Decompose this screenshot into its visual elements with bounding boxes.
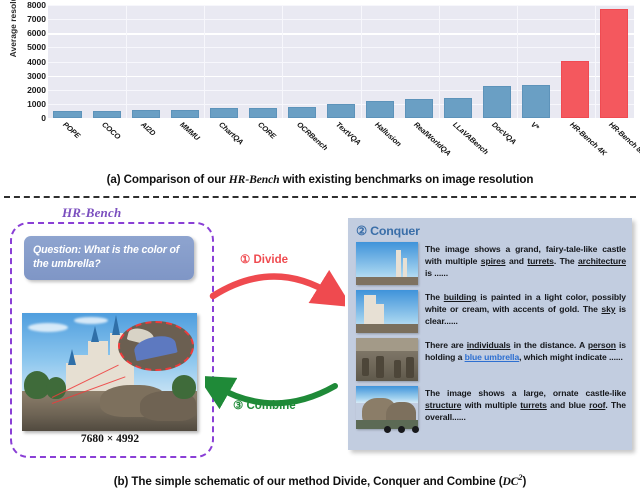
section-divider	[4, 196, 636, 198]
bar-v-	[522, 85, 550, 118]
caption-b-prefix: (b) The simple schematic of our method D…	[114, 475, 503, 488]
caption-b-emphasis: DC	[502, 475, 518, 488]
x-tick-label: AI2D	[139, 120, 157, 138]
dot-icon	[398, 426, 405, 433]
x-label-slot: COCO	[87, 120, 126, 172]
x-label-slot: ChartQA	[204, 120, 243, 172]
conquer-row: The image shows a large, ornate castle-l…	[356, 386, 626, 429]
y-tick-label: 3000	[27, 71, 46, 81]
castle-spire	[68, 349, 76, 365]
y-tick-label: 1000	[27, 99, 46, 109]
x-tick-label: V*	[529, 120, 541, 132]
bar-slot	[87, 5, 126, 118]
bar-textvqa	[327, 104, 355, 118]
caption-b: (b) The simple schematic of our method D…	[0, 473, 640, 488]
castle-tower-thumbnail	[356, 290, 418, 333]
bar-slot	[595, 5, 634, 118]
bar-hallusion	[366, 101, 394, 118]
divide-arrow	[213, 276, 331, 296]
bar-slot	[282, 5, 321, 118]
x-tick-label: DocVQA	[490, 120, 518, 146]
x-label-slot: AI2D	[126, 120, 165, 172]
bar-llavabench	[444, 98, 472, 118]
combine-label: ③ Combine	[233, 398, 296, 412]
castle-spire-thumbnail	[356, 242, 418, 285]
caption-a-emphasis: HR-Bench	[229, 173, 280, 186]
bar-slot	[126, 5, 165, 118]
x-tick-label: TextVQA	[334, 120, 363, 147]
question-bubble: Question: What is the color of the umbre…	[24, 236, 194, 280]
process-arrows: ① Divide ③ Combine	[205, 224, 345, 449]
schematic-panel: HR-Bench Question: What is the color of …	[0, 200, 640, 470]
x-tick-label: HR-Bench 8K	[608, 120, 640, 158]
crowd-umbrella-thumbnail	[356, 338, 418, 381]
bar-mmmu	[171, 110, 199, 118]
bar-core	[249, 108, 277, 118]
bar-slot	[400, 5, 439, 118]
bar-slot	[48, 5, 87, 118]
bar-chartqa	[210, 108, 238, 118]
conquer-row-text: There are individuals in the distance. A…	[425, 338, 626, 363]
x-label-slot: CORE	[243, 120, 282, 172]
conquer-row-text: The building is painted in a light color…	[425, 290, 626, 327]
image-resolution-label: 7680 × 4992	[10, 433, 210, 445]
x-label-slot: HR-Bench 8K	[595, 120, 634, 172]
conquer-row-text: The image shows a large, ornate castle-l…	[425, 386, 626, 423]
plot-area	[48, 5, 634, 118]
y-tick-label: 0	[41, 113, 46, 123]
x-label-slot: LLaVABench	[439, 120, 478, 172]
x-axis-labels: POPECOCOAI2DMMMUChartQACOREOCRBenchTextV…	[48, 120, 634, 172]
conquer-row: The image shows a grand, fairy-tale-like…	[356, 242, 626, 285]
source-image	[22, 313, 197, 431]
bar-ai2d	[132, 110, 160, 118]
y-tick-label: 5000	[27, 42, 46, 52]
hr-bench-title: HR-Bench	[62, 205, 121, 221]
bar-hr-bench-8k	[600, 9, 628, 118]
tree-icon	[172, 375, 196, 399]
conquer-row-list: The image shows a grand, fairy-tale-like…	[356, 242, 626, 434]
caption-b-suffix: )	[522, 475, 526, 488]
x-label-slot: OCRBench	[282, 120, 321, 172]
cloud-icon	[28, 323, 68, 332]
bar-pope	[53, 111, 81, 118]
dot-icon	[384, 426, 391, 433]
divide-label: ① Divide	[240, 252, 288, 266]
bar-coco	[93, 111, 121, 118]
bar-slot	[556, 5, 595, 118]
bar-realworldqa	[405, 99, 433, 118]
conquer-row-text: The image shows a grand, fairy-tale-like…	[425, 242, 626, 279]
ellipsis-dots	[384, 426, 419, 433]
resolution-bar-chart: Average resolution 010002000300040005000…	[0, 0, 640, 172]
castle-spire	[112, 315, 120, 335]
conquer-row: There are individuals in the distance. A…	[356, 338, 626, 381]
cloud-icon	[74, 317, 108, 324]
caption-a-suffix: with existing benchmarks on image resolu…	[280, 173, 534, 186]
conquer-title: ② Conquer	[356, 223, 420, 238]
bar-ocrbench	[288, 107, 316, 118]
x-label-slot: V*	[517, 120, 556, 172]
x-label-slot: POPE	[48, 120, 87, 172]
bar-slot	[361, 5, 400, 118]
dot-icon	[412, 426, 419, 433]
x-tick-label: CORE	[256, 120, 278, 141]
conquer-panel: ② Conquer The image shows a grand, fairy…	[348, 218, 632, 450]
zoom-region-ellipse	[118, 321, 194, 371]
bar-series	[48, 5, 634, 118]
bar-docvqa	[483, 86, 511, 118]
y-tick-label: 4000	[27, 57, 46, 67]
y-tick-label: 7000	[27, 14, 46, 24]
bar-slot	[243, 5, 282, 118]
bar-slot	[439, 5, 478, 118]
x-tick-label: COCO	[100, 120, 122, 141]
bar-slot	[204, 5, 243, 118]
x-label-slot: DocVQA	[478, 120, 517, 172]
y-tick-label: 2000	[27, 85, 46, 95]
conquer-row: The building is painted in a light color…	[356, 290, 626, 333]
x-label-slot: Hallusion	[361, 120, 400, 172]
x-label-slot: HR-Bench 4K	[556, 120, 595, 172]
castle-spire	[91, 326, 99, 342]
bar-slot	[517, 5, 556, 118]
castle-rock-thumbnail	[356, 386, 418, 429]
bar-slot	[165, 5, 204, 118]
caption-a-prefix: (a) Comparison of our	[107, 173, 229, 186]
chart-panel: Average resolution 010002000300040005000…	[0, 0, 640, 172]
x-label-slot: MMMU	[165, 120, 204, 172]
x-tick-label: MMMU	[178, 120, 201, 142]
y-tick-label: 8000	[27, 0, 46, 10]
bar-slot	[321, 5, 360, 118]
y-axis-ticks: 010002000300040005000600070008000	[16, 0, 46, 122]
castle-tower	[88, 341, 108, 361]
x-label-slot: TextVQA	[321, 120, 360, 172]
x-tick-label: ChartQA	[217, 120, 245, 147]
bar-hr-bench-4k	[561, 61, 589, 118]
caption-a: (a) Comparison of our HR-Bench with exis…	[0, 173, 640, 186]
bar-slot	[478, 5, 517, 118]
x-label-slot: RealWorldQA	[400, 120, 439, 172]
x-tick-label: POPE	[61, 120, 82, 140]
y-tick-label: 6000	[27, 28, 46, 38]
